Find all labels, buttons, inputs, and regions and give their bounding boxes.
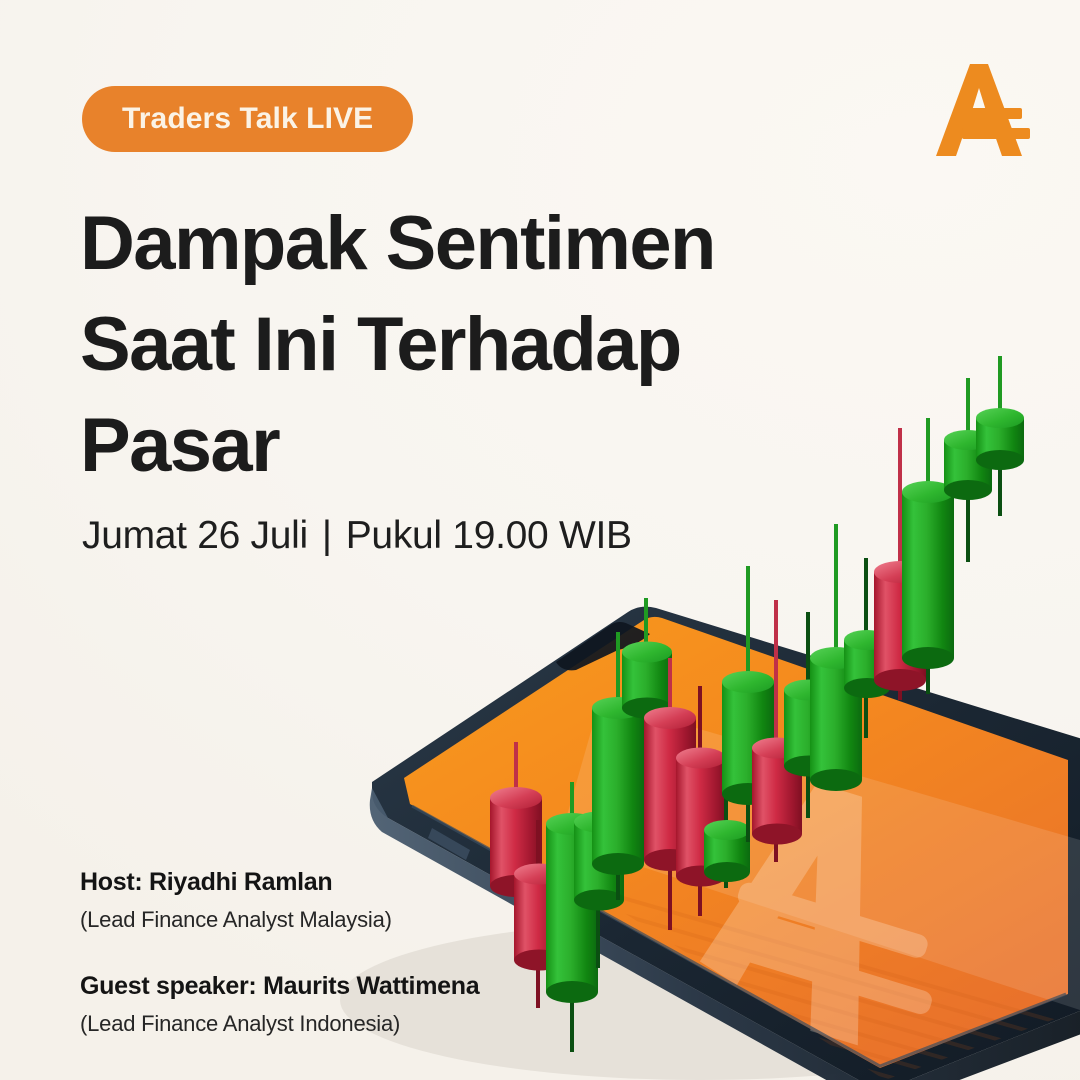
schedule-time: Pukul 19.00 WIB [346,514,632,558]
host-role: (Lead Finance Analyst Malaysia) [80,903,600,936]
guest-role: (Lead Finance Analyst Indonesia) [80,1007,600,1040]
promo-poster: Traders Talk LIVE Dampak Sentimen Saat I… [0,0,1080,1080]
headline-line-1: Dampak Sentimen [80,193,840,294]
guest-name: Guest speaker: Maurits Wattimena [80,970,600,1004]
schedule-date: Jumat 26 Juli [82,514,308,558]
headline-line-2: Saat Ini Terhadap [80,294,840,395]
schedule-separator: | [322,514,332,558]
host-name: Host: Riyadhi Ramlan [80,866,600,900]
live-badge: Traders Talk LIVE [82,86,413,152]
page-title: Dampak Sentimen Saat Ini Terhadap Pasar [80,193,840,496]
host-block: Host: Riyadhi Ramlan (Lead Finance Analy… [80,866,600,936]
headline-line-3: Pasar [80,395,840,496]
schedule-line: Jumat 26 Juli | Pukul 19.00 WIB [82,514,632,558]
guest-block: Guest speaker: Maurits Wattimena (Lead F… [80,970,600,1040]
brand-a-logo-icon [936,60,1032,160]
speaker-list: Host: Riyadhi Ramlan (Lead Finance Analy… [80,866,600,1040]
